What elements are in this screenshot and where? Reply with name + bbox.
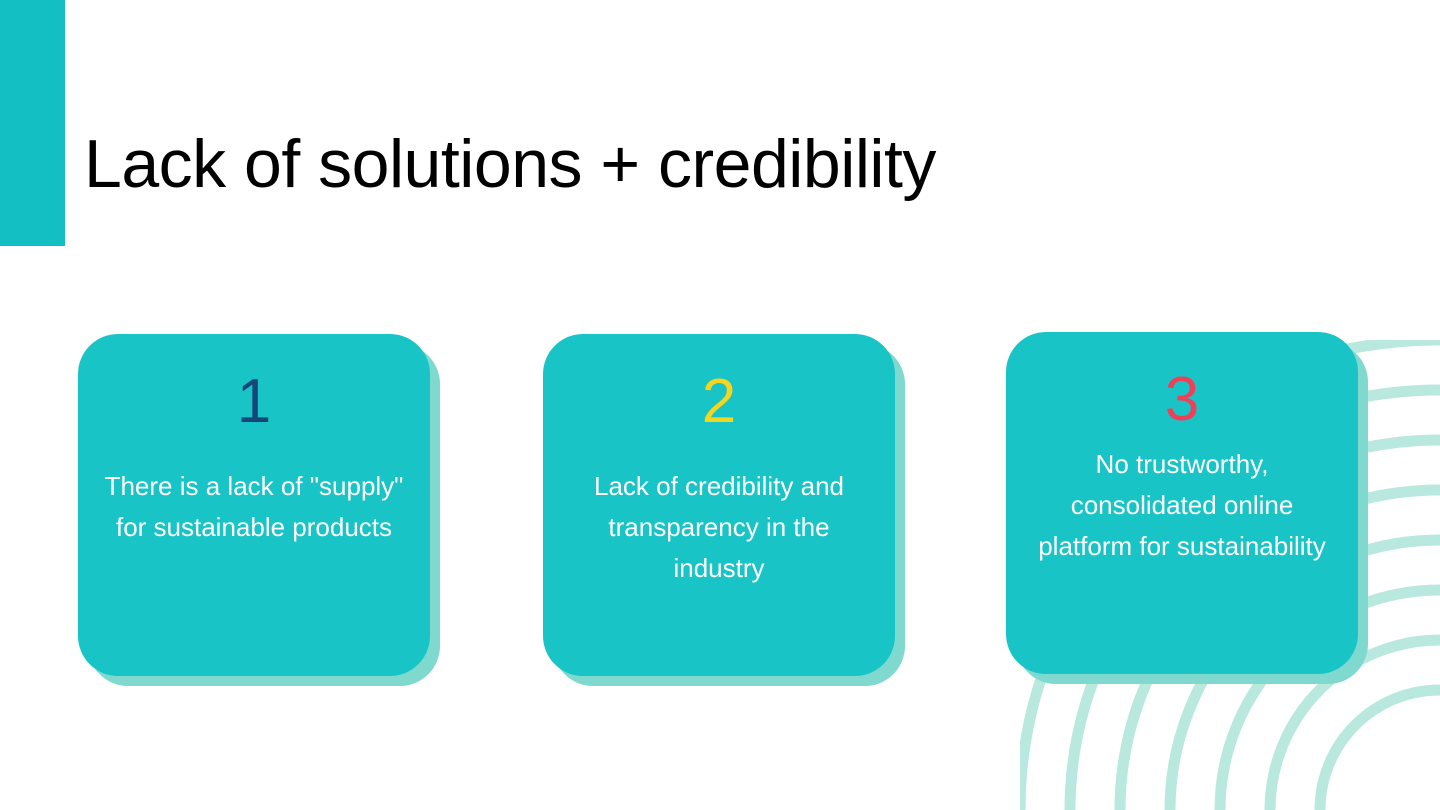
card-1-surface[interactable]: 1 There is a lack of "supply" for sustai… [78, 334, 430, 676]
card-2-number: 2 [702, 368, 736, 446]
card-1[interactable]: 1 There is a lack of "supply" for sustai… [78, 334, 440, 686]
card-2-surface[interactable]: 2 Lack of credibility and transparency i… [543, 334, 895, 676]
card-2-text: Lack of credibility and transparency in … [565, 466, 873, 589]
card-1-body: There is a lack of "supply" for sustaina… [104, 446, 404, 656]
card-1-text: There is a lack of "supply" for sustaina… [100, 466, 408, 548]
card-3-text: No trustworthy, consolidated online plat… [1028, 444, 1336, 567]
card-3[interactable]: 3 No trustworthy, consolidated online pl… [1006, 332, 1368, 684]
slide-canvas: Lack of solutions + credibility 1 There … [0, 0, 1440, 810]
cards-row: 1 There is a lack of "supply" for sustai… [0, 0, 1440, 810]
card-2[interactable]: 2 Lack of credibility and transparency i… [543, 334, 905, 686]
card-1-number: 1 [237, 368, 271, 446]
card-3-body: No trustworthy, consolidated online plat… [1032, 444, 1332, 654]
card-3-number: 3 [1165, 366, 1199, 444]
card-3-surface[interactable]: 3 No trustworthy, consolidated online pl… [1006, 332, 1358, 674]
card-2-body: Lack of credibility and transparency in … [569, 446, 869, 656]
